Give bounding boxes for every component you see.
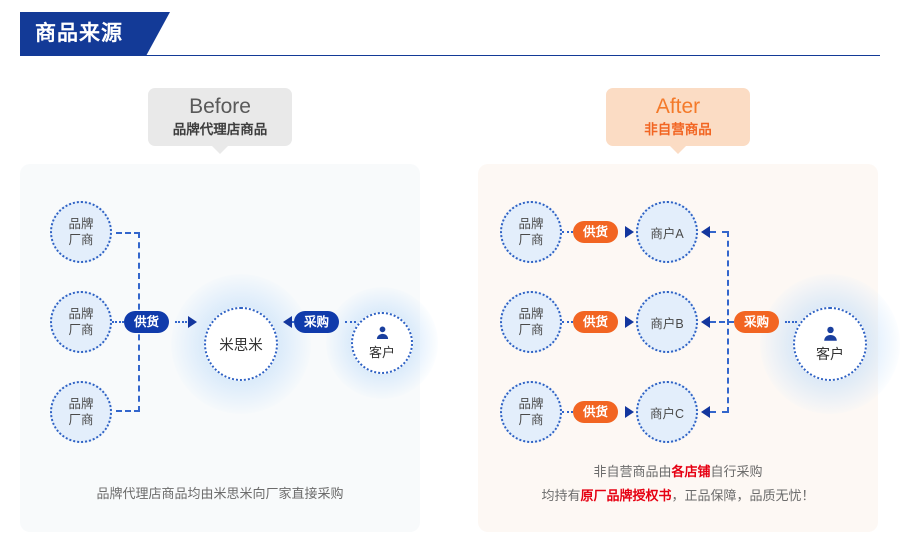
supply-pill-3[interactable]: 供货 xyxy=(573,401,618,423)
person-icon xyxy=(374,325,391,341)
after-brand-node-2-line2: 厂商 xyxy=(518,322,543,338)
merchant-node-a[interactable]: 商户A xyxy=(636,201,698,263)
after-caption-1-highlight: 各店铺 xyxy=(671,464,710,479)
person-icon xyxy=(821,325,840,343)
page-header: 商品来源 xyxy=(0,12,900,56)
after-diagram-stage: 品牌 厂商 供货 商户A 品牌 厂商 供货 商户B 品牌 厂商 xyxy=(478,164,878,464)
after-purchase-branch-1 xyxy=(710,231,728,233)
after-supply-arrow-icon-3 xyxy=(625,406,634,418)
center-node-misumi[interactable]: 米思米 xyxy=(204,307,278,381)
brand-node-3-line2: 厂商 xyxy=(68,412,93,428)
after-caption-2a: 均持有 xyxy=(541,488,580,503)
before-diagram-panel: 品牌 厂商 品牌 厂商 品牌 厂商 供货 米思米 xyxy=(20,164,420,532)
brand-node-3[interactable]: 品牌 厂商 xyxy=(50,381,112,443)
after-supply-arrow-icon-1 xyxy=(625,226,634,238)
before-purchase-stub-right xyxy=(345,321,356,323)
brand-node-2-line2: 厂商 xyxy=(68,322,93,338)
supply-pill-2[interactable]: 供货 xyxy=(573,311,618,333)
after-badge-title: After xyxy=(606,94,750,120)
brand-node-1[interactable]: 品牌 厂商 xyxy=(50,201,112,263)
after-brand-node-1[interactable]: 品牌 厂商 xyxy=(500,201,562,263)
before-badge-tail-icon xyxy=(211,145,229,154)
before-column: Before 品牌代理店商品 品牌 厂商 品牌 厂商 品牌 厂商 xyxy=(20,88,420,533)
after-caption-line-2: 均持有原厂品牌授权书，正品保障，品质无忧！ xyxy=(478,484,878,508)
supply-pill-1[interactable]: 供货 xyxy=(573,221,618,243)
before-diagram-stage: 品牌 厂商 品牌 厂商 品牌 厂商 供货 米思米 xyxy=(20,164,420,464)
after-purchase-arrow-icon-1 xyxy=(701,226,710,238)
page-title: 商品来源 xyxy=(35,12,123,56)
before-supply-arrow-icon xyxy=(188,316,197,328)
after-diagram-panel: 品牌 厂商 供货 商户A 品牌 厂商 供货 商户B 品牌 厂商 xyxy=(478,164,878,532)
before-badge-subtitle: 品牌代理店商品 xyxy=(148,120,292,140)
purchase-pill-after[interactable]: 采购 xyxy=(734,311,779,333)
purchase-pill-before[interactable]: 采购 xyxy=(294,311,339,333)
before-purchase-arrow-icon xyxy=(283,316,292,328)
after-brand-node-3[interactable]: 品牌 厂商 xyxy=(500,381,562,443)
after-brand-node-3-line2: 厂商 xyxy=(518,412,543,428)
after-caption-1a: 非自营商品由 xyxy=(593,464,671,479)
before-badge-title: Before xyxy=(148,94,292,120)
brand-node-3-line1: 品牌 xyxy=(68,396,93,412)
header-underline xyxy=(20,55,880,56)
after-supply-stub-3-left xyxy=(562,411,573,413)
after-purchase-stub-right xyxy=(785,321,797,323)
after-brand-node-1-line1: 品牌 xyxy=(518,216,543,232)
after-supply-arrow-icon-2 xyxy=(625,316,634,328)
brand-node-1-line1: 品牌 xyxy=(68,216,93,232)
after-caption: 非自营商品由各店铺自行采购 均持有原厂品牌授权书，正品保障，品质无忧！ xyxy=(478,460,878,508)
after-brand-node-3-line1: 品牌 xyxy=(518,396,543,412)
after-caption-2-highlight: 原厂品牌授权书 xyxy=(580,488,671,503)
after-caption-2b: ，正品保障，品质无忧！ xyxy=(672,488,815,503)
after-caption-line-1: 非自营商品由各店铺自行采购 xyxy=(478,460,878,484)
after-supply-stub-1-left xyxy=(562,231,573,233)
after-purchase-arrow-icon-2 xyxy=(701,316,710,328)
customer-node-after[interactable]: 客户 xyxy=(793,307,867,381)
before-caption: 品牌代理店商品均由米思米向厂家直接采购 xyxy=(20,482,420,506)
after-purchase-branch-2 xyxy=(710,321,734,323)
merchant-node-b[interactable]: 商户B xyxy=(636,291,698,353)
customer-node-before-label: 客户 xyxy=(369,342,395,361)
after-purchase-branch-3 xyxy=(710,411,728,413)
after-brand-node-2-line1: 品牌 xyxy=(518,306,543,322)
before-supply-stub-right xyxy=(175,321,187,323)
customer-node-after-label: 客户 xyxy=(816,344,844,364)
customer-node-before[interactable]: 客户 xyxy=(351,312,413,374)
after-badge-tail-icon xyxy=(669,145,687,154)
after-purchase-arrow-icon-3 xyxy=(701,406,710,418)
before-supply-stub-left xyxy=(112,321,124,323)
after-purchase-trunk xyxy=(727,231,729,413)
after-badge: After 非自营商品 xyxy=(606,88,750,146)
merchant-node-c[interactable]: 商户C xyxy=(636,381,698,443)
after-brand-node-1-line2: 厂商 xyxy=(518,232,543,248)
after-column: After 非自营商品 品牌 厂商 供货 商户A 品牌 厂商 供货 商户B xyxy=(478,88,878,533)
after-brand-node-2[interactable]: 品牌 厂商 xyxy=(500,291,562,353)
brand-node-2[interactable]: 品牌 厂商 xyxy=(50,291,112,353)
after-supply-stub-2-left xyxy=(562,321,573,323)
supply-pill-before[interactable]: 供货 xyxy=(124,311,169,333)
brand-node-1-line2: 厂商 xyxy=(68,232,93,248)
brand-node-2-line1: 品牌 xyxy=(68,306,93,322)
after-badge-subtitle: 非自营商品 xyxy=(606,120,750,140)
before-badge: Before 品牌代理店商品 xyxy=(148,88,292,146)
after-caption-1b: 自行采购 xyxy=(711,464,763,479)
